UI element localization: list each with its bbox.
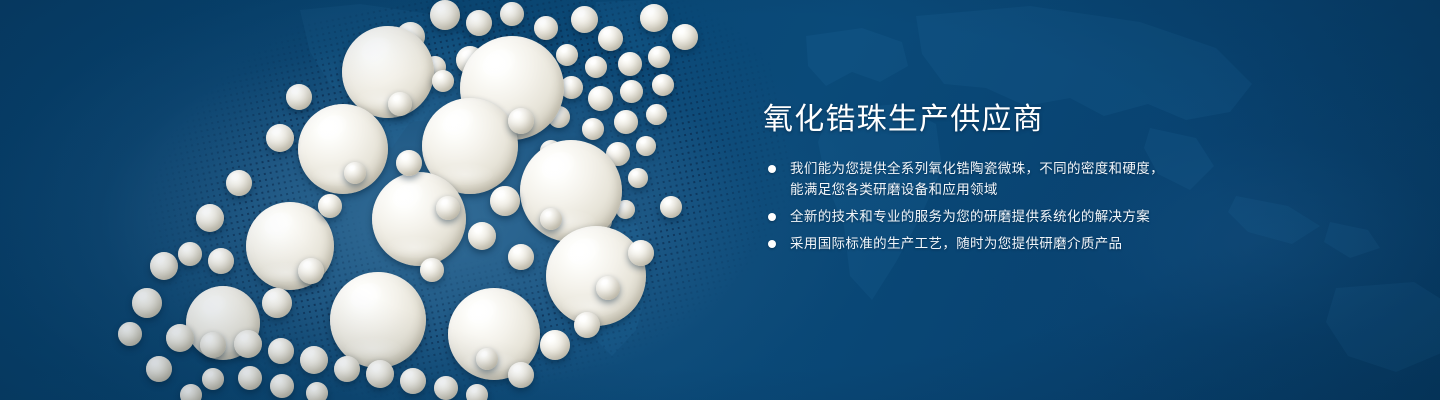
vignette-overlay: [0, 0, 1440, 400]
hero-banner: 氧化锆珠生产供应商 我们能为您提供全系列氧化锆陶瓷微珠，不同的密度和硬度， 能满…: [0, 0, 1440, 400]
